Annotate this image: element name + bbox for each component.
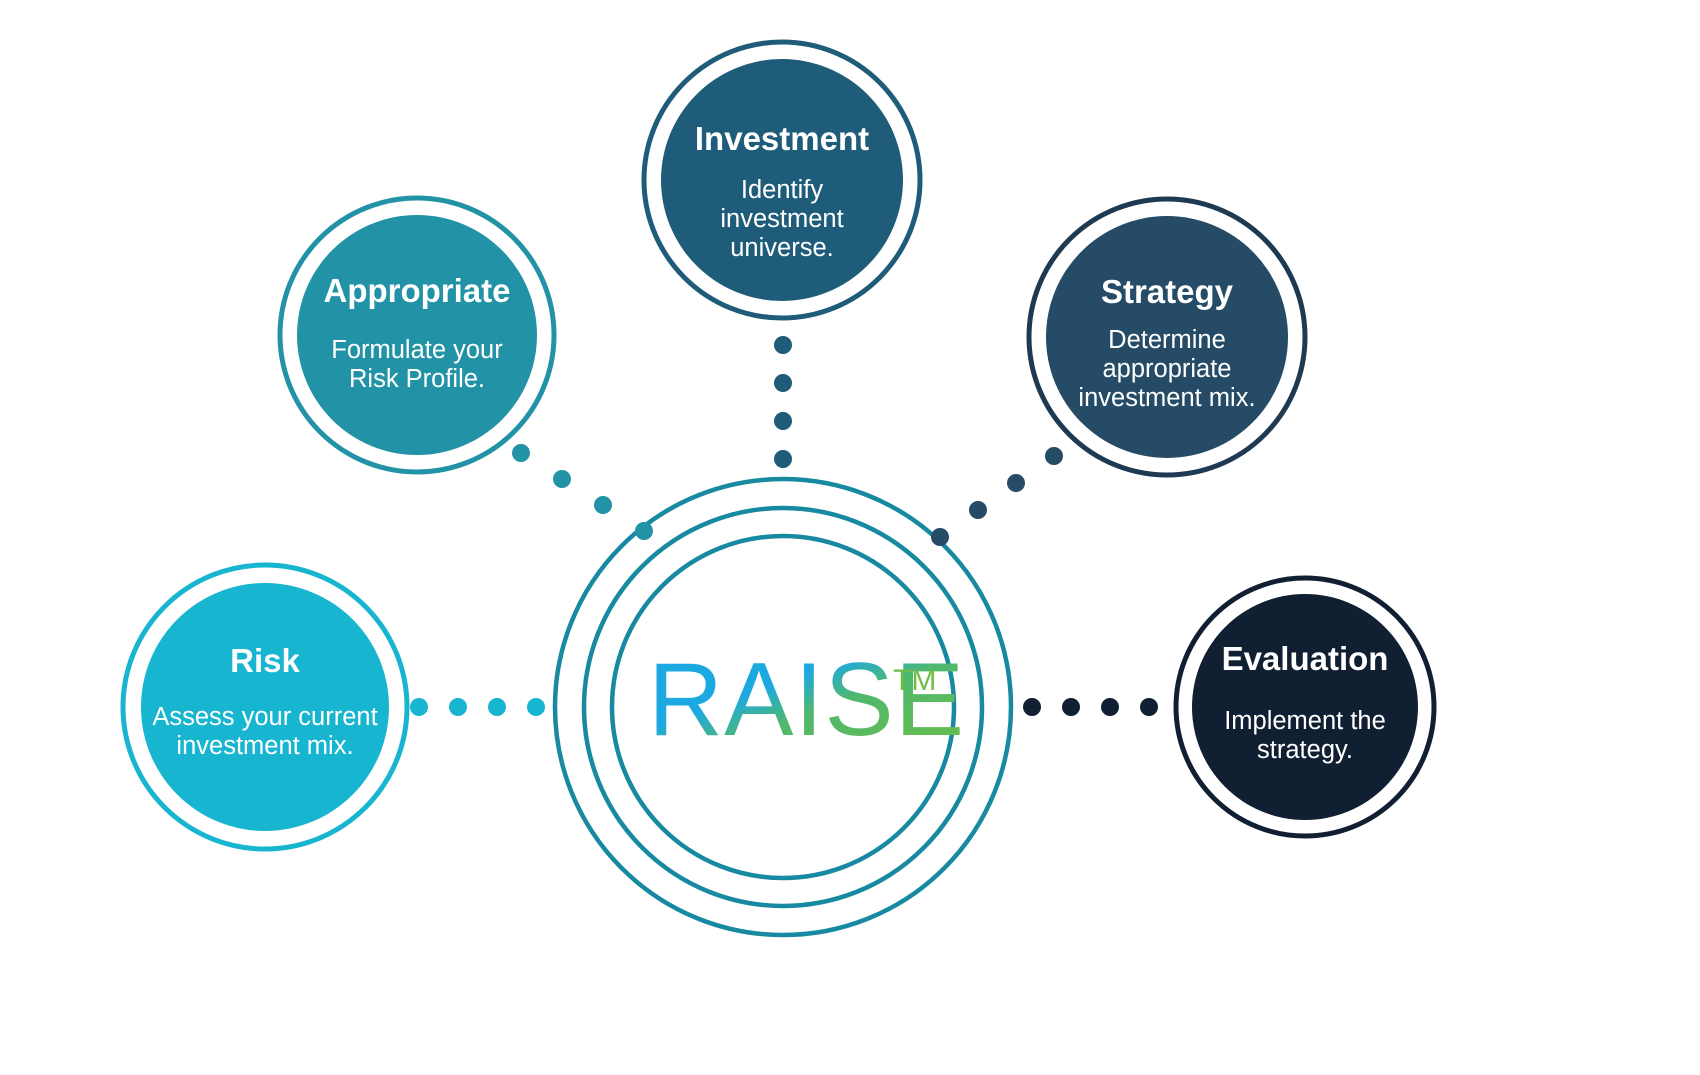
node-title: Risk (230, 642, 300, 679)
connector-dot (1101, 698, 1119, 716)
node-description: Assess your current (152, 703, 377, 731)
connector-dot (410, 698, 428, 716)
connector-dot (527, 698, 545, 716)
connector-dot (931, 528, 949, 546)
node-strategy[interactable]: Strategy Determine appropriate investmen… (1029, 199, 1305, 475)
trademark-symbol: TM (893, 664, 936, 697)
connector-dot (1045, 447, 1063, 465)
node-investment[interactable]: Investment Identify investment universe. (644, 42, 920, 318)
node-description: investment mix. (1078, 384, 1255, 412)
raise-process-diagram: RAISE TM (0, 0, 1700, 1075)
connector-strategy (931, 447, 1063, 546)
node-evaluation[interactable]: Evaluation Implement the strategy. (1176, 578, 1434, 836)
connector-dot (774, 336, 792, 354)
node-title: Strategy (1101, 273, 1234, 310)
raise-logo-text: RAISE (648, 642, 965, 758)
connector-appropriate (512, 444, 653, 540)
connector-dot (1062, 698, 1080, 716)
node-description: investment mix. (176, 732, 353, 760)
node-description: Determine (1108, 326, 1226, 354)
node-appropriate[interactable]: Appropriate Formulate your Risk Profile. (280, 198, 554, 472)
connector-dot (488, 698, 506, 716)
connector-dot (635, 522, 653, 540)
connector-dot (553, 470, 571, 488)
connector-evaluation (1023, 698, 1158, 716)
connector-dot (1023, 698, 1041, 716)
connector-dot (449, 698, 467, 716)
connector-dot (774, 374, 792, 392)
node-description: universe. (730, 234, 833, 262)
connector-investment (774, 336, 792, 468)
node-description: strategy. (1257, 736, 1353, 764)
connector-dot (594, 496, 612, 514)
node-description: appropriate (1102, 355, 1231, 383)
connector-dot (1140, 698, 1158, 716)
connector-dot (512, 444, 530, 462)
node-description: investment (720, 205, 843, 233)
node-description: Risk Profile. (349, 365, 485, 393)
node-risk[interactable]: Risk Assess your current investment mix. (123, 565, 407, 849)
connector-risk (410, 698, 545, 716)
diagram-canvas: RAISE TM (0, 0, 1700, 1075)
node-title: Evaluation (1222, 640, 1389, 677)
node-description: Implement the (1224, 707, 1386, 735)
node-title: Appropriate (323, 272, 510, 309)
node-description: Formulate your (331, 336, 503, 364)
node-title: Investment (695, 120, 869, 157)
center-hub: RAISE TM (555, 479, 1011, 935)
connector-dot (969, 501, 987, 519)
node-description: Identify (741, 176, 823, 204)
node-disc (297, 215, 537, 455)
connector-dot (1007, 474, 1025, 492)
connector-dot (774, 412, 792, 430)
connector-dot (774, 450, 792, 468)
